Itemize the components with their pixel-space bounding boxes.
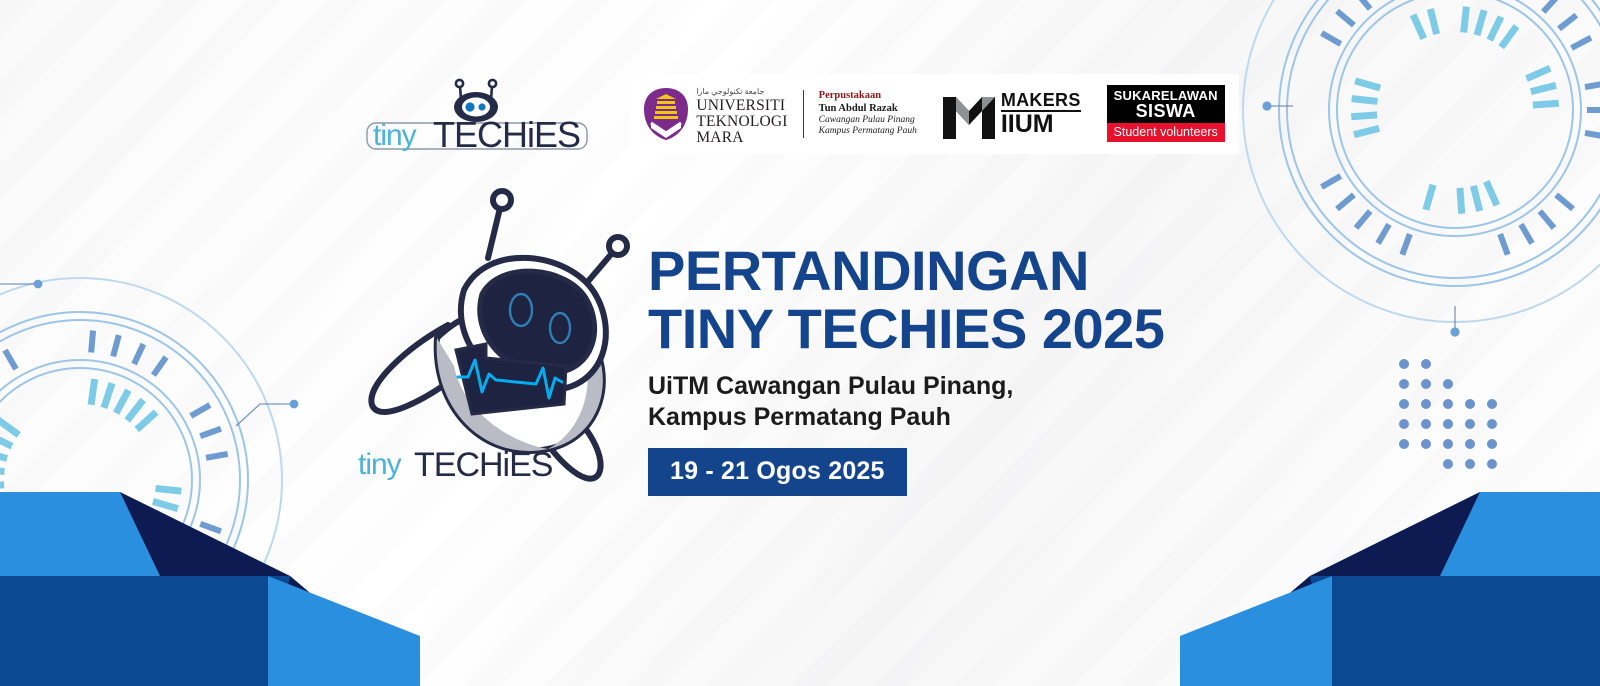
uitm-shield-icon xyxy=(643,87,689,141)
hero-section: PERTANDINGAN TINY TECHIES 2025 UiTM Cawa… xyxy=(0,170,1600,500)
uitm-line-3: MARA xyxy=(696,130,787,146)
svg-text:TECHiES: TECHiES xyxy=(414,446,553,484)
library-line-4: Kampus Permatang Pauh xyxy=(819,126,917,137)
uitm-jawi-text: جامعة تكنولوجي مارا xyxy=(696,87,764,96)
logo-divider xyxy=(803,90,804,138)
subtitle-line-1: UiTM Cawangan Pulau Pinang, xyxy=(648,372,1013,400)
partner-logos-box: جامعة تكنولوجي مارا UNIVERSITI TEKNOLOGI… xyxy=(629,74,1238,155)
date-badge: 19 - 21 Ogos 2025 xyxy=(648,448,907,496)
sukarelawan-line-3: Student volunteers xyxy=(1107,123,1225,142)
tiny-techies-logo: tiny TECHiES xyxy=(361,74,593,154)
subtitle-line-2: Kampus Permatang Pauh xyxy=(648,402,1348,433)
event-banner: tiny TECHiES جامعة تكنولوجي مارا xyxy=(0,0,1600,686)
makers-line-1: MAKERS xyxy=(1001,92,1081,112)
library-line-3: Cawangan Pulau Pinang xyxy=(819,115,917,126)
makers-m-icon xyxy=(943,89,995,139)
tiny-techies-mascot-wordmark: tiny TECHiES xyxy=(356,440,566,484)
makers-iium-logo: MAKERS IIUM xyxy=(943,89,1081,139)
title-line-2: TINY TECHIES 2025 xyxy=(648,300,1348,358)
svg-text:tiny: tiny xyxy=(373,119,417,152)
uitm-wordmark: جامعة تكنولوجي مارا UNIVERSITI TEKNOLOGI… xyxy=(696,82,787,147)
svg-text:TECHiES: TECHiES xyxy=(433,114,580,154)
logo-strip: tiny TECHiES جامعة تكنولوجي مارا xyxy=(0,62,1600,166)
sukarelawan-siswa-logo: SUKARELAWAN SISWA Student volunteers xyxy=(1107,85,1225,142)
library-line-2: Tun Abdul Razak xyxy=(819,103,917,115)
sukarelawan-top-block: SUKARELAWAN SISWA xyxy=(1107,85,1225,123)
uitm-logo: جامعة تكنولوجي مارا UNIVERSITI TEKNOLOGI… xyxy=(643,82,917,147)
venue-subtitle: UiTM Cawangan Pulau Pinang, Kampus Perma… xyxy=(648,371,1348,432)
makers-line-2: IIUM xyxy=(1001,113,1081,137)
hero-copy: PERTANDINGAN TINY TECHIES 2025 UiTM Cawa… xyxy=(648,242,1348,496)
svg-text:tiny: tiny xyxy=(358,448,402,481)
uitm-line-2: TEKNOLOGI xyxy=(696,114,787,130)
title-line-1: PERTANDINGAN xyxy=(648,239,1089,302)
library-wordmark: Perpustakaan Tun Abdul Razak Cawangan Pu… xyxy=(819,90,917,137)
page-title: PERTANDINGAN TINY TECHIES 2025 xyxy=(648,242,1348,357)
library-line-1: Perpustakaan xyxy=(819,90,917,102)
uitm-line-1: UNIVERSITI xyxy=(696,98,787,114)
makers-wordmark: MAKERS IIUM xyxy=(1001,92,1081,137)
sukarelawan-line-2: SISWA xyxy=(1113,102,1219,120)
